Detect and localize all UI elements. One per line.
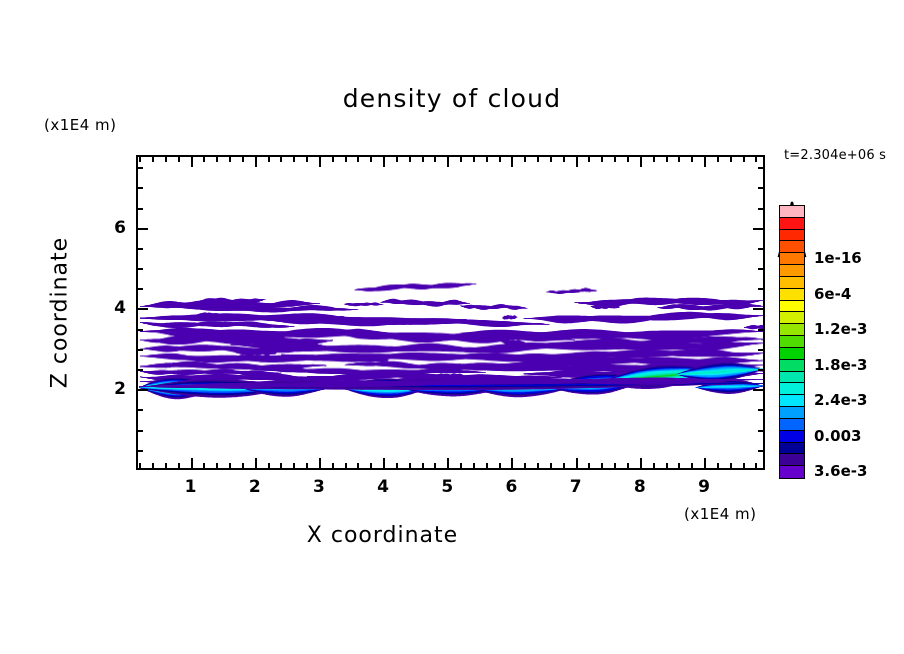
x-tick-label: 8 (634, 477, 646, 497)
tick-mark (255, 458, 257, 469)
tick-mark (229, 463, 231, 469)
tick-mark (460, 463, 462, 469)
tick-mark (511, 156, 513, 167)
tick-mark (758, 167, 764, 169)
time-stamp-label: t=2.304e+06 s (784, 148, 886, 163)
tick-mark (137, 349, 143, 351)
tick-mark (178, 463, 180, 469)
tick-mark (152, 463, 154, 469)
tick-mark (242, 463, 244, 469)
tick-mark (306, 463, 308, 469)
tick-mark (550, 156, 552, 162)
tick-mark (653, 463, 655, 469)
tick-mark (165, 463, 167, 469)
x-tick-label: 6 (506, 477, 518, 497)
tick-mark (511, 458, 513, 469)
tick-mark (137, 308, 148, 310)
tick-mark (422, 156, 424, 162)
tick-mark (758, 329, 764, 331)
tick-mark (753, 228, 764, 230)
tick-mark (486, 463, 488, 469)
tick-mark (717, 156, 719, 162)
tick-mark (758, 288, 764, 290)
figure-root: density of cloud (x1E4 m) t=2.304e+06 s … (0, 0, 904, 654)
tick-mark (601, 156, 603, 162)
tick-mark (447, 458, 449, 469)
tick-mark (332, 156, 334, 162)
tick-mark (203, 156, 205, 162)
x-tick-label: 9 (698, 477, 710, 497)
tick-mark (137, 389, 148, 391)
x-tick-label: 7 (570, 477, 582, 497)
tick-mark (293, 156, 295, 162)
tick-mark (563, 463, 565, 469)
tick-mark (691, 463, 693, 469)
tick-mark (743, 156, 745, 162)
tick-mark (137, 208, 143, 210)
x-tick-label: 3 (313, 477, 325, 497)
tick-mark (137, 450, 143, 452)
plot-area (136, 155, 765, 470)
tick-mark (678, 156, 680, 162)
tick-mark (563, 156, 565, 162)
tick-mark (588, 156, 590, 162)
z-axis-unit-label: (x1E4 m) (44, 116, 117, 134)
tick-mark (704, 458, 706, 469)
tick-mark (409, 463, 411, 469)
tick-mark (137, 288, 143, 290)
tick-mark (666, 463, 668, 469)
tick-mark (137, 329, 143, 331)
x-axis-title: X coordinate (0, 523, 765, 548)
colorbar-tick-label: 3.6e-3 (814, 462, 867, 480)
colorbar (779, 205, 805, 477)
tick-mark (460, 156, 462, 162)
tick-mark (137, 228, 148, 230)
tick-mark (203, 463, 205, 469)
tick-mark (396, 156, 398, 162)
y-tick-label: 2 (106, 379, 126, 399)
tick-mark (137, 369, 143, 371)
tick-mark (319, 156, 321, 167)
tick-mark (434, 463, 436, 469)
colorbar-tick-label: 6e-4 (814, 285, 851, 303)
tick-mark (524, 463, 526, 469)
y-tick-label: 6 (106, 218, 126, 238)
tick-mark (755, 156, 757, 162)
tick-mark (704, 156, 706, 167)
tick-mark (614, 463, 616, 469)
tick-mark (293, 463, 295, 469)
tick-mark (576, 458, 578, 469)
tick-mark (332, 463, 334, 469)
contour-canvas (138, 157, 763, 468)
colorbar-tick-label: 2.4e-3 (814, 391, 867, 409)
tick-mark (409, 156, 411, 162)
tick-mark (753, 389, 764, 391)
tick-mark (383, 458, 385, 469)
tick-mark (137, 268, 143, 270)
tick-mark (758, 187, 764, 189)
tick-mark (191, 156, 193, 167)
tick-mark (550, 463, 552, 469)
y-axis-title: Z coordinate (48, 193, 73, 433)
tick-mark (137, 167, 143, 169)
colorbar-tick-label: 0.003 (814, 427, 861, 445)
tick-mark (627, 463, 629, 469)
tick-mark (499, 156, 501, 162)
tick-mark (165, 156, 167, 162)
tick-mark (691, 156, 693, 162)
tick-mark (753, 308, 764, 310)
tick-mark (640, 458, 642, 469)
colorbar-band (779, 465, 805, 478)
tick-mark (486, 156, 488, 162)
tick-mark (345, 156, 347, 162)
x-axis-unit-label: (x1E4 m) (684, 505, 757, 523)
tick-mark (396, 463, 398, 469)
tick-mark (758, 268, 764, 270)
tick-mark (614, 156, 616, 162)
tick-mark (242, 156, 244, 162)
tick-mark (370, 156, 372, 162)
tick-mark (755, 463, 757, 469)
tick-mark (524, 156, 526, 162)
tick-mark (601, 463, 603, 469)
tick-mark (229, 156, 231, 162)
tick-mark (139, 156, 141, 162)
contour-field (138, 157, 763, 468)
tick-mark (758, 248, 764, 250)
tick-mark (268, 156, 270, 162)
tick-mark (345, 463, 347, 469)
tick-mark (537, 463, 539, 469)
tick-mark (216, 156, 218, 162)
tick-mark (758, 430, 764, 432)
tick-mark (499, 463, 501, 469)
tick-mark (758, 409, 764, 411)
tick-mark (537, 156, 539, 162)
chart-title: density of cloud (0, 84, 904, 113)
tick-mark (576, 156, 578, 167)
tick-mark (370, 463, 372, 469)
tick-mark (178, 156, 180, 162)
tick-mark (280, 156, 282, 162)
colorbar-tick-label: 1.8e-3 (814, 356, 867, 374)
tick-mark (434, 156, 436, 162)
tick-mark (447, 156, 449, 167)
tick-mark (588, 463, 590, 469)
x-tick-label: 4 (377, 477, 389, 497)
tick-mark (730, 156, 732, 162)
tick-mark (139, 463, 141, 469)
tick-mark (137, 187, 143, 189)
tick-mark (268, 463, 270, 469)
tick-mark (152, 156, 154, 162)
tick-mark (473, 156, 475, 162)
tick-mark (730, 463, 732, 469)
tick-mark (137, 409, 143, 411)
tick-mark (255, 156, 257, 167)
tick-mark (666, 156, 668, 162)
tick-mark (743, 463, 745, 469)
tick-mark (653, 156, 655, 162)
tick-mark (357, 463, 359, 469)
tick-mark (758, 208, 764, 210)
tick-mark (137, 248, 143, 250)
tick-mark (319, 458, 321, 469)
tick-mark (627, 156, 629, 162)
tick-mark (137, 430, 143, 432)
tick-mark (640, 156, 642, 167)
tick-mark (357, 156, 359, 162)
tick-mark (758, 369, 764, 371)
x-tick-label: 5 (441, 477, 453, 497)
tick-mark (383, 156, 385, 167)
y-tick-label: 4 (106, 298, 126, 318)
tick-mark (306, 156, 308, 162)
tick-mark (717, 463, 719, 469)
x-tick-label: 2 (249, 477, 261, 497)
tick-mark (280, 463, 282, 469)
tick-mark (191, 458, 193, 469)
tick-mark (758, 450, 764, 452)
colorbar-tick-label: 1e-16 (814, 249, 862, 267)
tick-mark (216, 463, 218, 469)
colorbar-tick-label: 1.2e-3 (814, 320, 867, 338)
tick-mark (473, 463, 475, 469)
x-tick-label: 1 (185, 477, 197, 497)
tick-mark (758, 349, 764, 351)
tick-mark (678, 463, 680, 469)
tick-mark (422, 463, 424, 469)
